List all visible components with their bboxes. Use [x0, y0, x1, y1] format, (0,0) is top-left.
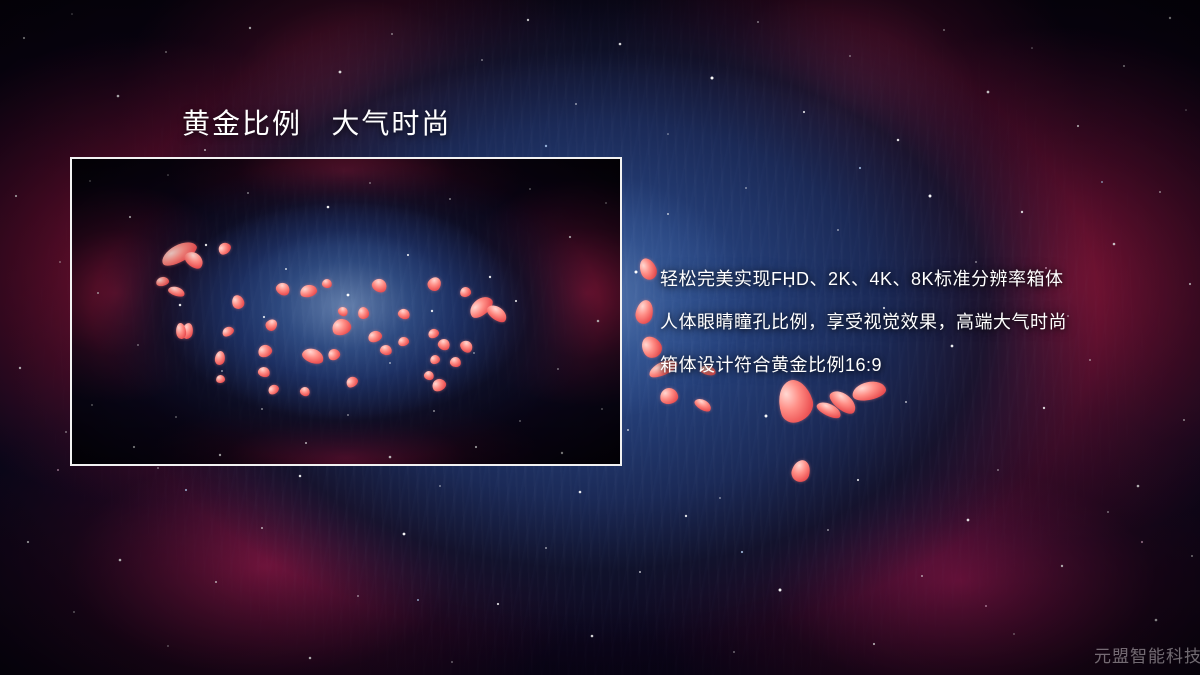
nebula-image-frame[interactable] [70, 157, 622, 466]
watermark: 元盟智能科技 [1094, 642, 1200, 667]
body-text-block: 轻松完美实现FHD、2K、4K、8K标准分辨率箱体 人体眼睛瞳孔比例，享受视觉效… [660, 258, 1067, 387]
page-title: 黄金比例 大气时尚 [182, 102, 451, 142]
body-line: 箱体设计符合黄金比例16:9 [660, 344, 1067, 387]
framed-vignette [72, 159, 620, 464]
body-line: 人体眼睛瞳孔比例，享受视觉效果，高端大气时尚 [660, 301, 1067, 344]
body-line: 轻松完美实现FHD、2K、4K、8K标准分辨率箱体 [660, 258, 1067, 301]
presentation-slide: 黄金比例 大气时尚 轻松完美实现FHD、2K、4K、8K标准分辨率箱体 人体眼睛… [0, 0, 1200, 675]
